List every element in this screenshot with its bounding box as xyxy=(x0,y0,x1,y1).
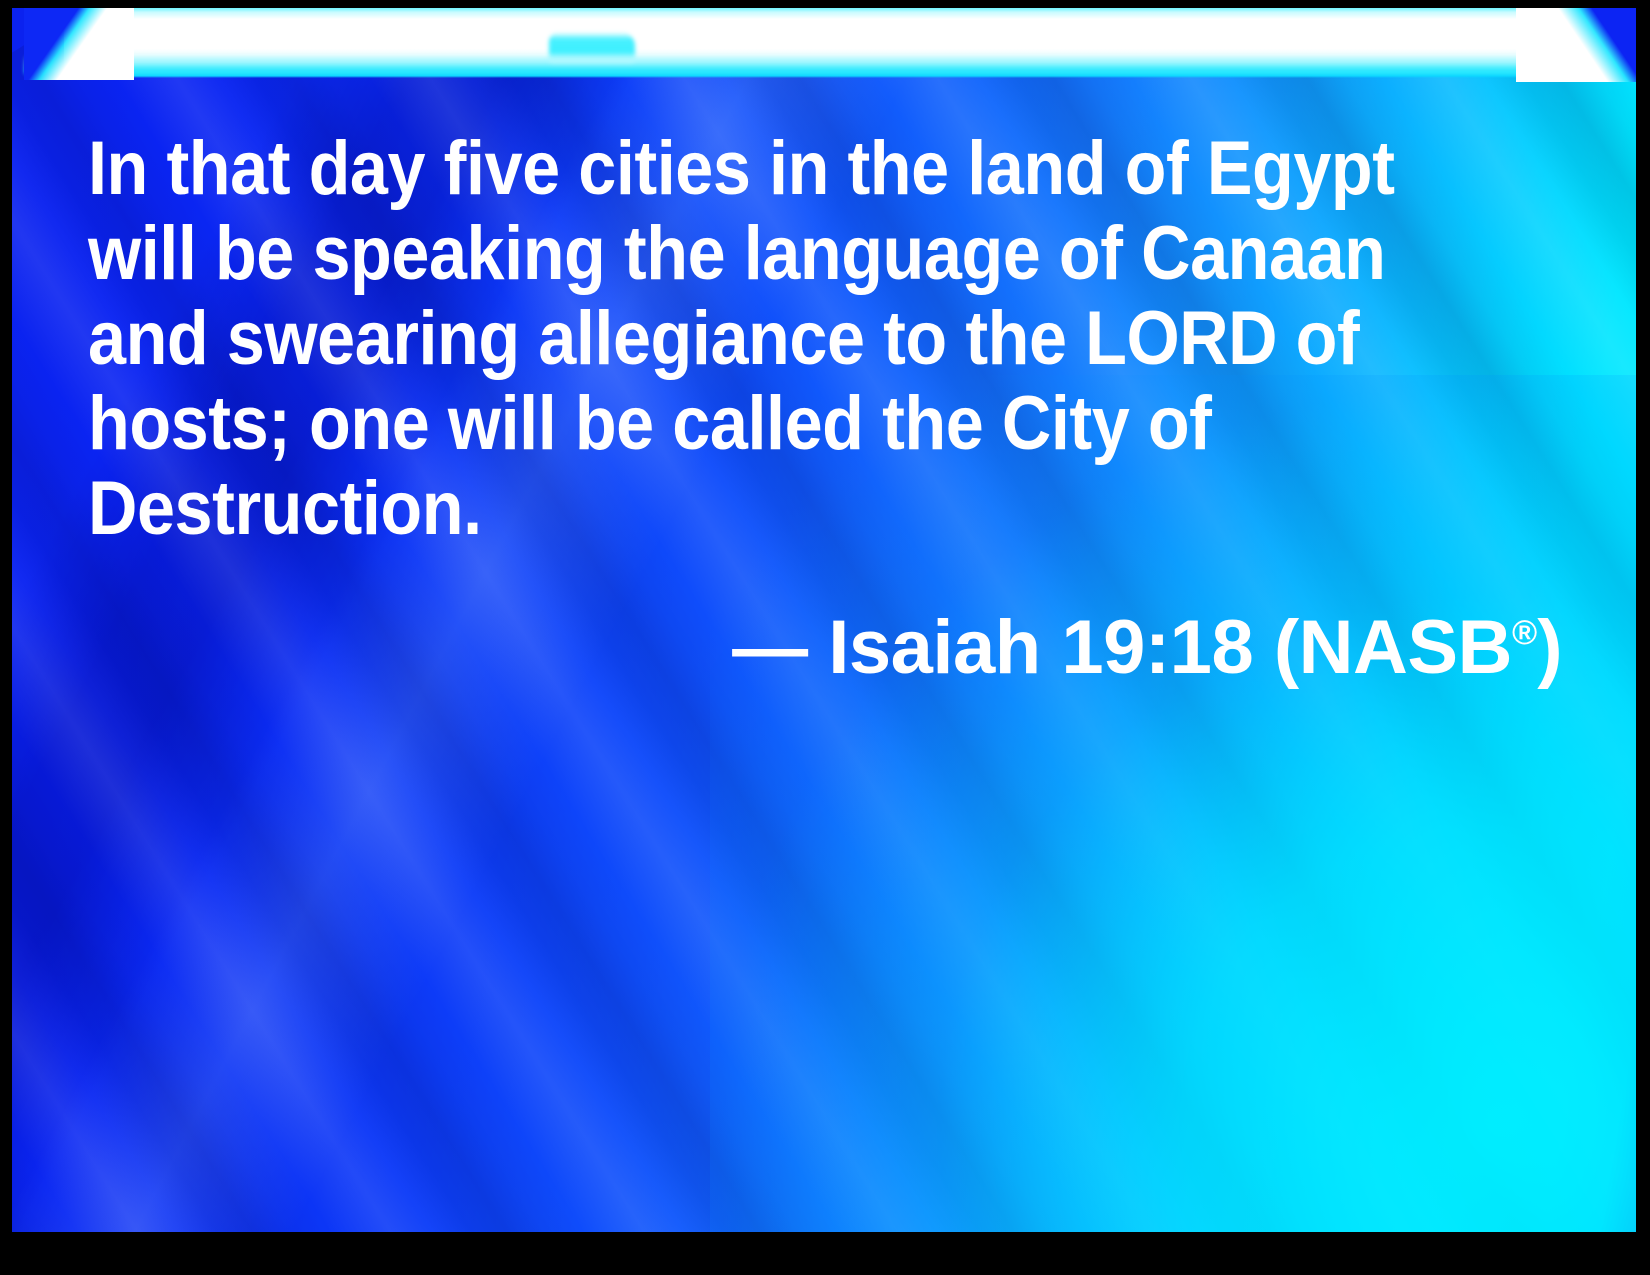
slide-canvas: In that day five cities in the land of E… xyxy=(12,8,1636,1232)
registered-trademark-icon: ® xyxy=(1512,614,1537,652)
slide-frame: In that day five cities in the land of E… xyxy=(0,0,1650,1275)
verse-attribution-suffix: ) xyxy=(1537,605,1562,690)
verse-block: In that day five cities in the land of E… xyxy=(88,126,1568,690)
verse-body-text: In that day five cities in the land of E… xyxy=(88,126,1564,551)
verse-attribution-prefix: — Isaiah 19:18 (NASB xyxy=(732,605,1512,690)
verse-attribution: — Isaiah 19:18 (NASB®) xyxy=(88,591,1568,690)
